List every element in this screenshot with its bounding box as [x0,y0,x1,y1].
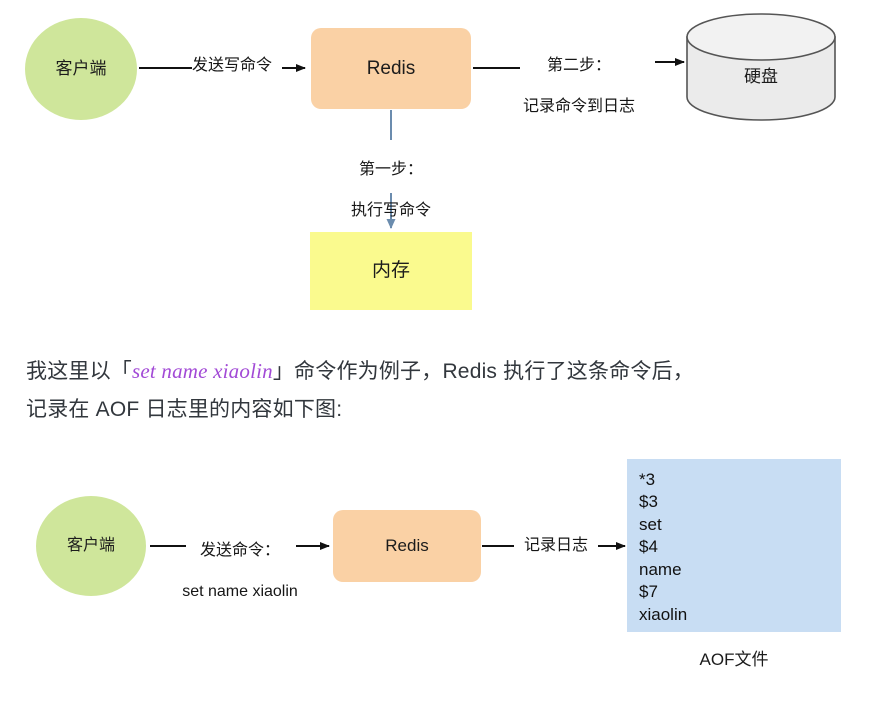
paragraph-part1: 我这里以「 [26,360,132,383]
edge-label-send-command: 发送命令： set name xiaolin [152,521,328,623]
top-client-label: 客户端 [56,58,107,79]
aof-line: name [639,559,831,581]
edge-label-step-one: 第一步： 执行写命令 [321,140,461,242]
bottom-client-node[interactable]: 客户端 [36,496,146,596]
top-memory-node[interactable]: 内存 [310,232,472,310]
aof-line: *3 [639,469,831,491]
aof-file-box[interactable]: *3 $3 set $4 name $7 xiaolin [627,459,841,632]
top-disk-node[interactable]: 硬盘 [687,14,835,120]
aof-file-caption: AOF文件 [627,645,841,670]
aof-line: $7 [639,581,831,603]
edge-label-step-one-line2: 执行写命令 [321,201,461,221]
edge-label-step-two-line2: 记录命令到日志 [497,97,661,117]
top-client-node[interactable]: 客户端 [25,18,137,120]
bottom-redis-label: Redis [385,535,428,556]
aof-line: $3 [639,491,831,513]
paragraph-part2: 」命令作为例子，Redis 执行了这条命令后， [273,360,694,383]
top-redis-label: Redis [367,57,416,81]
top-redis-node[interactable]: Redis [311,28,471,109]
explanatory-paragraph: 我这里以「set name xiaolin」命令作为例子，Redis 执行了这条… [26,352,866,429]
edge-label-step-two: 第二步： 记录命令到日志 [497,36,661,138]
paragraph-command-highlight: set name xiaolin [132,359,273,383]
edge-label-step-two-line1: 第二步： [497,56,661,76]
bottom-client-label: 客户端 [67,536,115,556]
top-disk-label: 硬盘 [687,62,835,87]
bottom-redis-node[interactable]: Redis [333,510,481,582]
aof-line: set [639,514,831,536]
edge-label-record-log: 记录日志 [512,536,600,556]
aof-line: xiaolin [639,604,831,626]
paragraph-line2: 记录在 AOF 日志里的内容如下图: [26,398,342,421]
edge-label-send-command-line2: set name xiaolin [152,582,328,602]
edge-label-send-command-line1: 发送命令： [152,541,328,561]
aof-line: $4 [639,536,831,558]
top-memory-label: 内存 [372,259,410,283]
edge-label-send-write-command: 发送写命令 [160,56,304,76]
edge-label-step-one-line1: 第一步： [321,160,461,180]
